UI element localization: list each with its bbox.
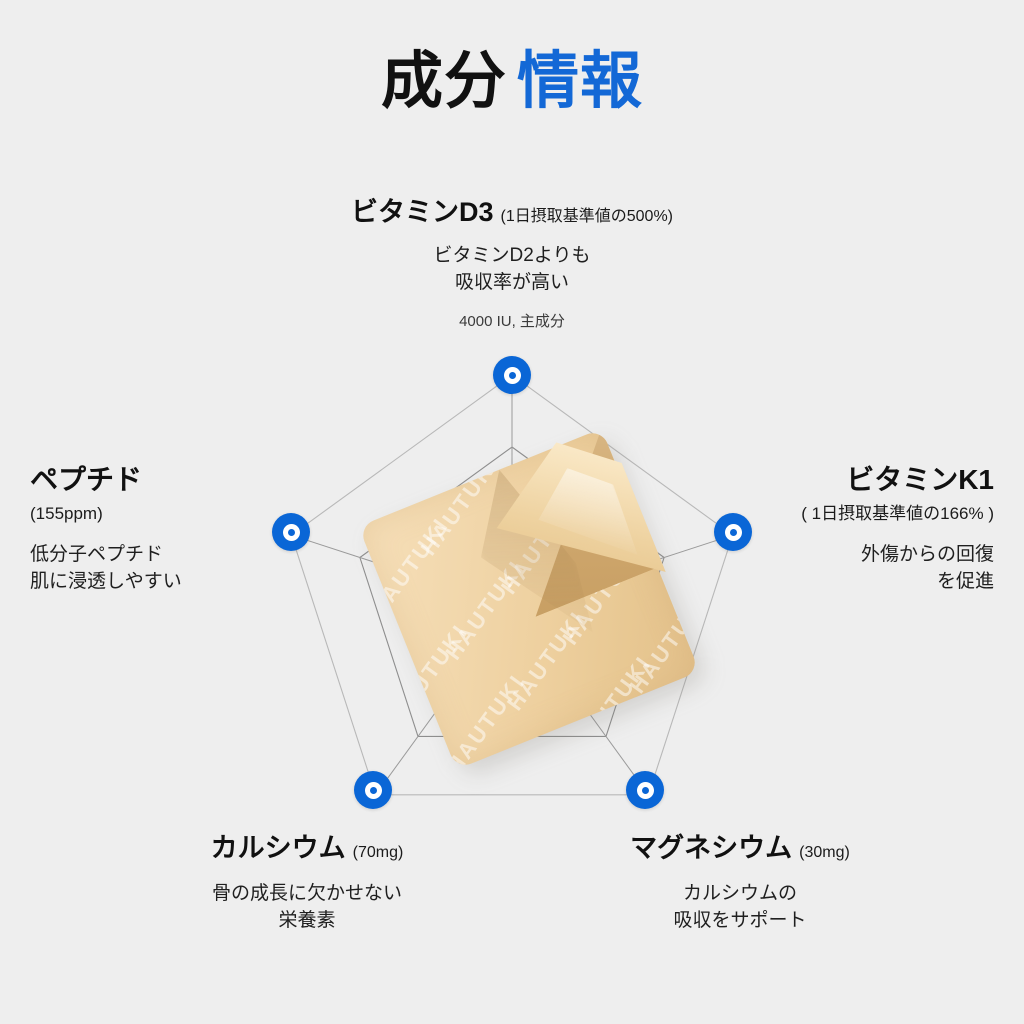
axis-label-calcium-desc: 骨の成長に欠かせない 栄養素 (152, 880, 462, 935)
ring-dot-icon (725, 524, 742, 541)
axis-label-peptide: ペプチド (155ppm) 低分子ペプチド 肌に浸透しやすい (30, 462, 182, 596)
nutrient-name: マグネシウム (630, 833, 792, 863)
nutrient-amount: (70mg) (353, 844, 404, 861)
axis-label-vitamin-k1: ビタミンK1 ( 1日摂取基準値の166% ) 外傷からの回復 を促進 (801, 462, 994, 596)
axis-label-calcium: カルシウム(70mg) 骨の成長に欠かせない 栄養素 (152, 832, 462, 935)
axis-label-magnesium: マグネシウム(30mg) カルシウムの 吸収をサポート (580, 832, 900, 935)
radar-vertex-marker-peptide[interactable] (272, 513, 310, 551)
axis-label-peptide-amount: (155ppm) (30, 501, 182, 527)
axis-label-vitamin-d3-desc: ビタミンD2よりも 吸収率が高い (0, 242, 1024, 297)
axis-label-peptide-desc: 低分子ペプチド 肌に浸透しやすい (30, 541, 182, 596)
nutrient-name: カルシウム (211, 833, 346, 863)
axis-label-vitamin-d3-note: 4000 IU, 主成分 (0, 311, 1024, 334)
nutrient-amount: (30mg) (799, 844, 850, 861)
axis-label-peptide-name: ペプチド (30, 462, 182, 497)
axis-label-magnesium-name: マグネシウム(30mg) (580, 832, 900, 866)
axis-label-calcium-name: カルシウム(70mg) (152, 832, 462, 866)
axis-label-magnesium-desc: カルシウムの 吸収をサポート (580, 880, 900, 935)
axis-label-vitamin-k1-amount: ( 1日摂取基準値の166% ) (801, 501, 994, 527)
axis-label-vitamin-k1-name: ビタミンK1 (801, 462, 994, 497)
ring-dot-icon (283, 524, 300, 541)
axis-label-vitamin-d3: ビタミンD3(1日摂取基準値の500%) ビタミンD2よりも 吸収率が高い 40… (0, 196, 1024, 333)
axis-label-vitamin-k1-desc: 外傷からの回復 を促進 (801, 541, 994, 596)
radar-vertex-marker-calcium[interactable] (354, 771, 392, 809)
nutrient-name: ビタミンD3 (351, 197, 494, 227)
radar-vertex-marker-magnesium[interactable] (626, 771, 664, 809)
ring-dot-icon (637, 782, 654, 799)
radar-vertex-marker-vitamin-d3[interactable] (493, 356, 531, 394)
nutrient-daily-value: (1日摂取基準値の500%) (501, 208, 673, 225)
axis-label-vitamin-d3-name: ビタミンD3(1日摂取基準値の500%) (0, 196, 1024, 230)
ring-dot-icon (504, 367, 521, 384)
ring-dot-icon (365, 782, 382, 799)
radar-vertex-marker-vitamin-k1[interactable] (714, 513, 752, 551)
